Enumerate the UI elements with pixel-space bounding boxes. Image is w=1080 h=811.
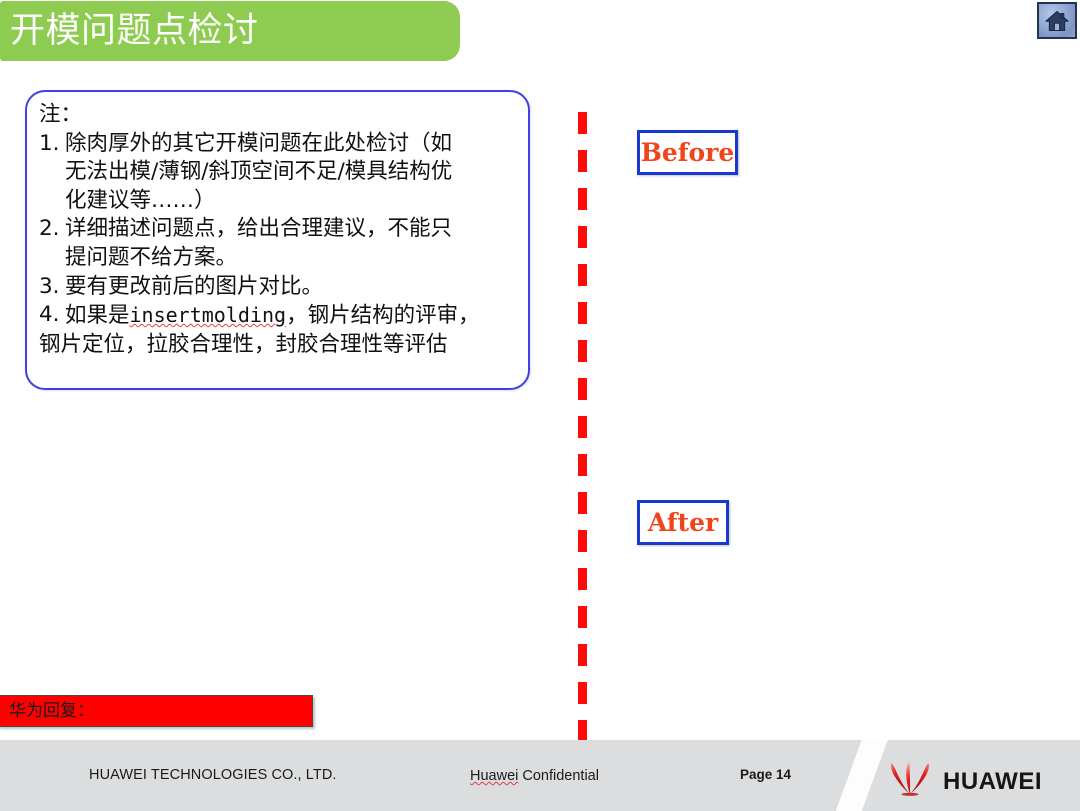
after-label: After xyxy=(648,510,718,535)
note-item-content: 如果是insertmolding，钢片结构的评审， xyxy=(65,301,520,331)
before-label-box: Before xyxy=(637,130,738,175)
footer-company-name: HUAWEI TECHNOLOGIES CO., LTD. xyxy=(89,767,337,783)
note-list-item: 2. 详细描述问题点，给出合理建议，不能只 提问题不给方案。 xyxy=(39,215,520,272)
huawei-reply-label: 华为回复： xyxy=(9,702,94,720)
note-list-item: 3. 要有更改前后的图片对比。 xyxy=(39,273,520,302)
footer-page-number: Page 14 xyxy=(740,767,791,782)
note-list-item: 1. 除肉厚外的其它开模问题在此处检讨（如 无法出模/薄钢/斜顶空间不足/模具结… xyxy=(39,130,520,216)
note-item-content: 详细描述问题点，给出合理建议，不能只 提问题不给方案。 xyxy=(65,215,520,272)
huawei-logo-icon xyxy=(888,762,932,801)
home-icon xyxy=(1044,9,1070,33)
misspelled-term: insertmolding xyxy=(130,303,287,327)
page-title: 开模问题点检讨 xyxy=(10,12,259,50)
note-item-marker: 4. xyxy=(39,301,65,330)
note-item-line: 无法出模/薄钢/斜顶空间不足/模具结构优 xyxy=(65,158,520,187)
note-item-content: 要有更改前后的图片对比。 xyxy=(65,273,520,302)
before-label: Before xyxy=(641,140,735,165)
note-heading: 注： xyxy=(39,101,520,130)
note-list-item: 4. 如果是insertmolding，钢片结构的评审， xyxy=(39,301,520,331)
vertical-dashed-divider xyxy=(578,112,587,740)
huawei-reply-banner: 华为回复： xyxy=(0,695,313,727)
note-item-line: 要有更改前后的图片对比。 xyxy=(65,273,520,302)
note-text-body: 注： 1. 除肉厚外的其它开模问题在此处检讨（如 无法出模/薄钢/斜顶空间不足/… xyxy=(39,101,520,359)
note-item-line: 提问题不给方案。 xyxy=(65,244,520,273)
note-item-prefix: 如果是 xyxy=(65,303,130,328)
home-icon-button[interactable] xyxy=(1037,2,1077,39)
slide-title-bar: 开模问题点检讨 xyxy=(0,1,460,61)
huawei-brand-lockup: HUAWEI xyxy=(888,762,1042,801)
misspelled-term: Huawei xyxy=(470,768,518,784)
note-item-line: 详细描述问题点，给出合理建议，不能只 xyxy=(65,215,520,244)
note-item-content: 除肉厚外的其它开模问题在此处检讨（如 无法出模/薄钢/斜顶空间不足/模具结构优 … xyxy=(65,130,520,216)
note-item-line: 除肉厚外的其它开模问题在此处检讨（如 xyxy=(65,130,520,159)
note-item-marker: 2. xyxy=(39,215,65,244)
note-item-suffix: ，钢片结构的评审， xyxy=(286,303,480,328)
note-item-line-mixed: 如果是insertmolding，钢片结构的评审， xyxy=(65,301,520,331)
huawei-brand-text: HUAWEI xyxy=(943,770,1042,794)
confidential-rest: Confidential xyxy=(518,768,599,784)
footer-confidential-notice: Huawei Confidential xyxy=(470,768,599,784)
slide-canvas: 开模问题点检讨 注： 1. 除肉厚外的其它开模问题在此处检讨（如 无法出模/薄钢… xyxy=(0,0,1080,811)
note-item-marker: 1. xyxy=(39,130,65,159)
note-item-line: 化建议等……） xyxy=(65,187,520,216)
footer-diagonal-divider xyxy=(831,740,892,811)
note-item-line: 钢片定位，拉胶合理性，封胶合理性等评估 xyxy=(39,331,520,360)
note-callout-box: 注： 1. 除肉厚外的其它开模问题在此处检讨（如 无法出模/薄钢/斜顶空间不足/… xyxy=(25,90,530,390)
note-item-marker: 3. xyxy=(39,273,65,302)
after-label-box: After xyxy=(637,500,729,545)
